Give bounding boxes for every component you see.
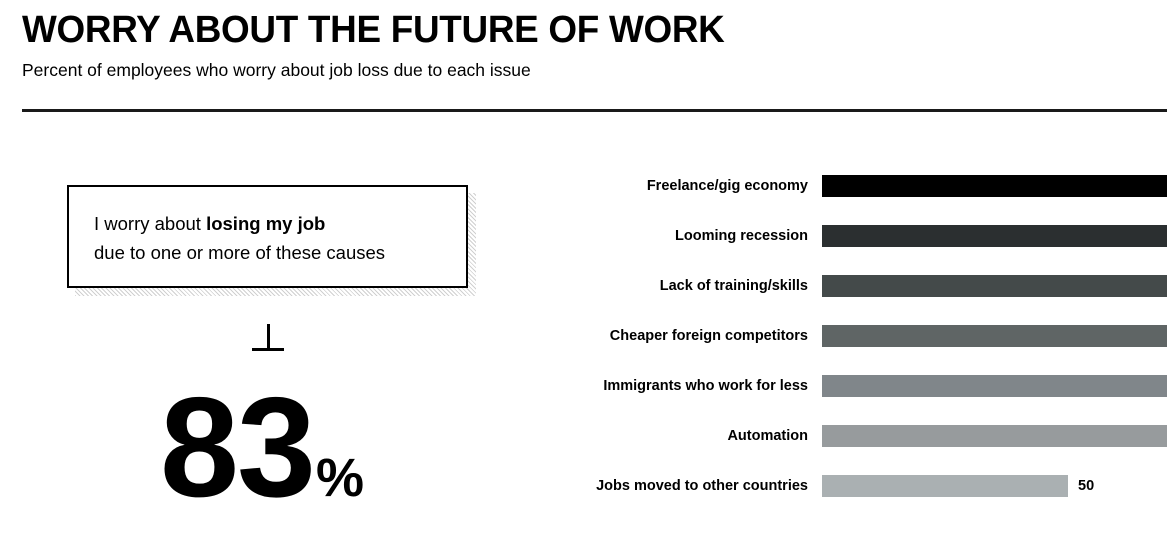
bar-fill xyxy=(822,475,1068,497)
connector-glyph xyxy=(252,324,284,352)
bar-fill xyxy=(822,175,1167,197)
bar-row: Jobs moved to other countries50 xyxy=(520,475,1167,497)
bar-fill xyxy=(822,375,1167,397)
callout-line2: due to one or more of these causes xyxy=(94,242,385,263)
bar-row: Cheaper foreign competitors55 xyxy=(520,325,1167,347)
callout-line1-prefix: I worry about xyxy=(94,213,206,234)
callout-text: I worry about losing my job due to one o… xyxy=(94,209,454,267)
page-subtitle: Percent of employees who worry about job… xyxy=(22,58,531,82)
bar-row: Lack of training/skills58 xyxy=(520,275,1167,297)
bar-fill xyxy=(822,325,1167,347)
connector-foot xyxy=(252,348,284,351)
bar-track xyxy=(822,225,1167,247)
bar-chart: Freelance/gig economy61Looming recession… xyxy=(520,175,1167,520)
bar-category-label: Immigrants who work for less xyxy=(520,375,808,397)
callout-line1-emphasis: losing my job xyxy=(206,213,325,234)
bar-row: Immigrants who work for less54 xyxy=(520,375,1167,397)
headline-statistic-unit: % xyxy=(316,415,364,541)
bar-row: Looming recession60 xyxy=(520,225,1167,247)
bar-fill xyxy=(822,275,1167,297)
bar-row: Automation53 xyxy=(520,425,1167,447)
bar-category-label: Freelance/gig economy xyxy=(520,175,808,197)
bar-fill xyxy=(822,425,1167,447)
bar-category-label: Lack of training/skills xyxy=(520,275,808,297)
bar-track xyxy=(822,425,1167,447)
headline-statistic: 83 % xyxy=(160,385,364,525)
bar-category-label: Cheaper foreign competitors xyxy=(520,325,808,347)
bar-track xyxy=(822,275,1167,297)
bar-row: Freelance/gig economy61 xyxy=(520,175,1167,197)
bar-fill xyxy=(822,225,1167,247)
bar-track xyxy=(822,325,1167,347)
bar-track xyxy=(822,375,1167,397)
bar-value-label: 50 xyxy=(1078,475,1094,497)
bar-category-label: Automation xyxy=(520,425,808,447)
callout-panel: I worry about losing my job due to one o… xyxy=(67,185,468,288)
connector-stem xyxy=(267,324,270,349)
page-title: WORRY ABOUT THE FUTURE OF WORK xyxy=(22,8,724,52)
bar-category-label: Looming recession xyxy=(520,225,808,247)
bar-track xyxy=(822,475,1068,497)
callout-box: I worry about losing my job due to one o… xyxy=(67,185,468,288)
header-divider xyxy=(22,109,1167,112)
headline-statistic-value: 83 xyxy=(160,385,314,511)
bar-track xyxy=(822,175,1167,197)
bar-category-label: Jobs moved to other countries xyxy=(520,475,808,497)
